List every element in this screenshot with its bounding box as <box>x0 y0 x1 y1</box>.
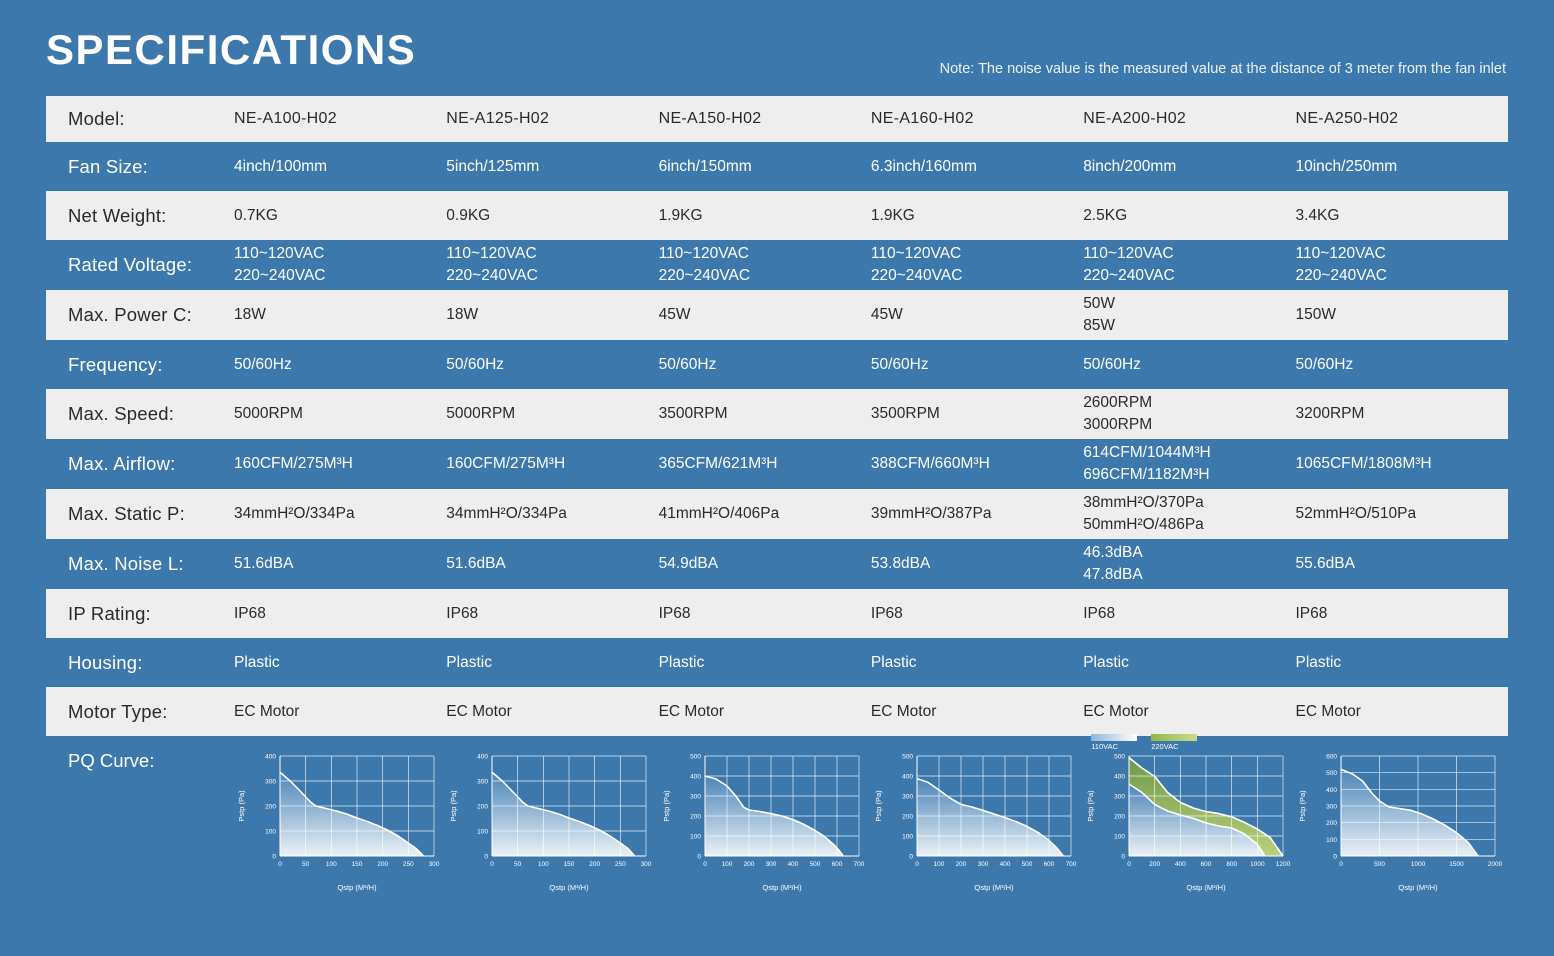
table-cell: 5inch/125mm <box>446 142 658 191</box>
cell-value: 50/60Hz <box>659 354 865 376</box>
svg-text:200: 200 <box>590 861 601 868</box>
legend-label: 220VAC <box>1151 742 1178 751</box>
svg-text:400: 400 <box>1327 787 1338 794</box>
cell-value: 2600RPM <box>1083 392 1289 414</box>
table-cell: 45W <box>871 290 1083 340</box>
svg-text:200: 200 <box>1327 820 1338 827</box>
svg-text:250: 250 <box>615 861 626 868</box>
table-cell: EC Motor <box>871 687 1083 736</box>
table-cell: 55.6dBA <box>1295 539 1507 589</box>
table-cell: 50/60Hz <box>1295 340 1507 389</box>
svg-text:100: 100 <box>690 834 701 841</box>
table-cell: 2600RPM3000RPM <box>1083 389 1295 439</box>
svg-text:200: 200 <box>743 861 754 868</box>
svg-text:0: 0 <box>278 861 282 868</box>
pq-chart-6: 01002003004005006000500100015002000Qstp … <box>1295 746 1507 894</box>
cell-value: EC Motor <box>1083 701 1289 723</box>
pq-chart-5: 110VAC220VAC0100200300400500020040060080… <box>1083 746 1295 894</box>
row-label: Housing: <box>46 638 234 687</box>
cell-value-secondary: 220~240VAC <box>871 265 1077 287</box>
cell-value: IP68 <box>1083 603 1289 625</box>
cell-value: 53.8dBA <box>871 553 1077 575</box>
pq-chart-2: 0100200300400050100150200250300Qstp (M³/… <box>446 746 658 894</box>
table-cell: 388CFM/660M³H <box>871 439 1083 489</box>
svg-text:500: 500 <box>1114 754 1125 761</box>
table-row: Rated Voltage:110~120VAC220~240VAC110~12… <box>46 240 1508 290</box>
pq-chart-4: 01002003004005000100200300400500600700Qs… <box>871 746 1083 894</box>
row-label: Max. Airflow: <box>46 439 234 489</box>
svg-text:500: 500 <box>902 754 913 761</box>
svg-text:100: 100 <box>538 861 549 868</box>
cell-value: 18W <box>446 304 652 326</box>
svg-text:400: 400 <box>999 861 1010 868</box>
row-label: Max. Static P: <box>46 489 234 539</box>
cell-value: IP68 <box>234 603 440 625</box>
table-cell: Plastic <box>234 638 446 687</box>
svg-text:300: 300 <box>1114 794 1125 801</box>
svg-text:Qstp (M³/H): Qstp (M³/H) <box>1399 883 1439 892</box>
cell-value: EC Motor <box>659 701 865 723</box>
table-cell: 50/60Hz <box>234 340 446 389</box>
pq-curve-chart: 01002003004005000100200300400500600700Qs… <box>871 746 1079 894</box>
cell-value: 110~120VAC <box>659 243 865 265</box>
cell-value: 45W <box>871 304 1077 326</box>
table-cell: 45W <box>659 290 871 340</box>
svg-text:150: 150 <box>564 861 575 868</box>
cell-value: 8inch/200mm <box>1083 156 1289 178</box>
table-cell: 53.8dBA <box>871 539 1083 589</box>
cell-value: 18W <box>234 304 440 326</box>
svg-text:200: 200 <box>265 804 276 811</box>
svg-text:100: 100 <box>721 861 732 868</box>
svg-text:700: 700 <box>853 861 864 868</box>
svg-text:200: 200 <box>477 804 488 811</box>
pq-curve-row: PQ Curve:0100200300400050100150200250300… <box>46 736 1508 916</box>
row-label: Max. Power C: <box>46 290 234 340</box>
cell-value: 1.9KG <box>871 205 1077 227</box>
svg-text:Qstp (M³/H): Qstp (M³/H) <box>762 883 802 892</box>
svg-text:50: 50 <box>514 861 522 868</box>
pq-chart-3: 01002003004005000100200300400500600700Qs… <box>659 746 871 894</box>
svg-text:300: 300 <box>265 779 276 786</box>
cell-value-secondary: 696CFM/1182M³H <box>1083 464 1289 486</box>
svg-text:0: 0 <box>490 861 494 868</box>
cell-value: 110~120VAC <box>446 243 652 265</box>
table-row: Model:NE-A100-H02NE-A125-H02NE-A150-H02N… <box>46 96 1508 142</box>
specifications-table: Model:NE-A100-H02NE-A125-H02NE-A150-H02N… <box>46 96 1508 916</box>
svg-text:0: 0 <box>1340 861 1344 868</box>
svg-text:200: 200 <box>690 814 701 821</box>
cell-value: NE-A150-H02 <box>659 108 865 131</box>
cell-value: 51.6dBA <box>446 553 652 575</box>
cell-value: Plastic <box>234 652 440 674</box>
table-row: Frequency:50/60Hz50/60Hz50/60Hz50/60Hz50… <box>46 340 1508 389</box>
svg-text:400: 400 <box>477 754 488 761</box>
row-label: Fan Size: <box>46 142 234 191</box>
table-row: Housing:PlasticPlasticPlasticPlasticPlas… <box>46 638 1508 687</box>
svg-text:500: 500 <box>690 754 701 761</box>
table-cell: Plastic <box>1295 638 1507 687</box>
svg-text:150: 150 <box>352 861 363 868</box>
pq-curve-chart: 0100200300400050100150200250300Qstp (M³/… <box>446 746 654 894</box>
svg-text:200: 200 <box>377 861 388 868</box>
table-cell: 34mmH²O/334Pa <box>234 489 446 539</box>
page-title: SPECIFICATIONS <box>46 26 416 74</box>
cell-value-secondary: 47.8dBA <box>1083 564 1289 586</box>
svg-text:Pstp (Pa): Pstp (Pa) <box>662 790 671 822</box>
table-cell: 50/60Hz <box>659 340 871 389</box>
table-row: Max. Static P:34mmH²O/334Pa34mmH²O/334Pa… <box>46 489 1508 539</box>
table-cell: 1.9KG <box>871 191 1083 240</box>
cell-value: Plastic <box>871 652 1077 674</box>
svg-text:250: 250 <box>403 861 414 868</box>
cell-value: Plastic <box>446 652 652 674</box>
page-header: SPECIFICATIONS Note: The noise value is … <box>0 0 1554 88</box>
cell-value: 34mmH²O/334Pa <box>446 503 652 525</box>
cell-value: IP68 <box>659 603 865 625</box>
svg-text:0: 0 <box>909 854 913 861</box>
cell-value: IP68 <box>1295 603 1501 625</box>
cell-value: 6.3inch/160mm <box>871 156 1077 178</box>
table-row: Net Weight:0.7KG0.9KG1.9KG1.9KG2.5KG3.4K… <box>46 191 1508 240</box>
svg-text:0: 0 <box>697 854 701 861</box>
cell-value: IP68 <box>871 603 1077 625</box>
legend-item: 220VAC <box>1151 734 1197 751</box>
svg-text:500: 500 <box>1327 770 1338 777</box>
cell-value-secondary: 220~240VAC <box>234 265 440 287</box>
cell-value: 110~120VAC <box>1083 243 1289 265</box>
row-label: Model: <box>46 96 234 142</box>
table-cell: 110~120VAC220~240VAC <box>1083 240 1295 290</box>
cell-value: 38mmH²O/370Pa <box>1083 492 1289 514</box>
table-cell: IP68 <box>871 589 1083 638</box>
svg-text:50: 50 <box>302 861 310 868</box>
table-cell: 52mmH²O/510Pa <box>1295 489 1507 539</box>
cell-value-secondary: 85W <box>1083 315 1289 337</box>
svg-text:400: 400 <box>1114 774 1125 781</box>
table-cell: 50/60Hz <box>1083 340 1295 389</box>
cell-value: 50/60Hz <box>1295 354 1501 376</box>
table-cell: 38mmH²O/370Pa50mmH²O/486Pa <box>1083 489 1295 539</box>
svg-text:Qstp (M³/H): Qstp (M³/H) <box>974 883 1014 892</box>
table-cell: Plastic <box>1083 638 1295 687</box>
table-cell: 110~120VAC220~240VAC <box>1295 240 1507 290</box>
table-cell: EC Motor <box>659 687 871 736</box>
svg-text:200: 200 <box>1149 861 1160 868</box>
svg-text:Pstp (Pa): Pstp (Pa) <box>1298 790 1307 822</box>
table-cell: 1065CFM/1808M³H <box>1295 439 1507 489</box>
table-cell: 0.9KG <box>446 191 658 240</box>
table-row: Fan Size:4inch/100mm5inch/125mm6inch/150… <box>46 142 1508 191</box>
cell-value: 45W <box>659 304 865 326</box>
svg-text:200: 200 <box>902 814 913 821</box>
table-cell: EC Motor <box>1295 687 1507 736</box>
svg-text:300: 300 <box>765 861 776 868</box>
table-row: IP Rating:IP68IP68IP68IP68IP68IP68 <box>46 589 1508 638</box>
svg-text:200: 200 <box>1114 814 1125 821</box>
cell-value: EC Motor <box>871 701 1077 723</box>
svg-text:Pstp (Pa): Pstp (Pa) <box>449 790 458 822</box>
cell-value: 50W <box>1083 293 1289 315</box>
cell-value: 34mmH²O/334Pa <box>234 503 440 525</box>
table-cell: 4inch/100mm <box>234 142 446 191</box>
cell-value: 52mmH²O/510Pa <box>1295 503 1501 525</box>
table-cell: Plastic <box>871 638 1083 687</box>
svg-text:0: 0 <box>272 854 276 861</box>
cell-value: 3.4KG <box>1295 205 1501 227</box>
cell-value: 150W <box>1295 304 1501 326</box>
cell-value: 50/60Hz <box>1083 354 1289 376</box>
cell-value: 10inch/250mm <box>1295 156 1501 178</box>
table-cell: IP68 <box>1295 589 1507 638</box>
legend-label: 110VAC <box>1091 742 1118 751</box>
table-cell: 6.3inch/160mm <box>871 142 1083 191</box>
cell-value: 0.9KG <box>446 205 652 227</box>
svg-text:300: 300 <box>477 779 488 786</box>
cell-value: NE-A100-H02 <box>234 108 440 131</box>
svg-text:100: 100 <box>477 829 488 836</box>
table-cell: NE-A150-H02 <box>659 96 871 142</box>
table-cell: 3.4KG <box>1295 191 1507 240</box>
table-cell: 0.7KG <box>234 191 446 240</box>
cell-value: EC Motor <box>234 701 440 723</box>
table-cell: 160CFM/275M³H <box>234 439 446 489</box>
cell-value: 5inch/125mm <box>446 156 652 178</box>
cell-value: 46.3dBA <box>1083 542 1289 564</box>
svg-text:0: 0 <box>1127 861 1131 868</box>
table-cell: IP68 <box>1083 589 1295 638</box>
table-row: Motor Type:EC MotorEC MotorEC MotorEC Mo… <box>46 687 1508 736</box>
cell-value-secondary: 220~240VAC <box>1083 265 1289 287</box>
row-label: Max. Speed: <box>46 389 234 439</box>
table-cell: 51.6dBA <box>446 539 658 589</box>
table-cell: 160CFM/275M³H <box>446 439 658 489</box>
svg-text:100: 100 <box>326 861 337 868</box>
pq-curve-chart: 01002003004005000100200300400500600700Qs… <box>659 746 867 894</box>
svg-text:500: 500 <box>1021 861 1032 868</box>
svg-text:600: 600 <box>1201 861 1212 868</box>
cell-value: NE-A125-H02 <box>446 108 652 131</box>
row-label: Net Weight: <box>46 191 234 240</box>
cell-value-secondary: 220~240VAC <box>659 265 865 287</box>
svg-text:1200: 1200 <box>1276 861 1291 868</box>
cell-value: 50/60Hz <box>871 354 1077 376</box>
svg-text:300: 300 <box>641 861 652 868</box>
row-label: Max. Noise L: <box>46 539 234 589</box>
svg-text:600: 600 <box>1043 861 1054 868</box>
cell-value: 0.7KG <box>234 205 440 227</box>
cell-value: 5000RPM <box>446 403 652 425</box>
cell-value: 160CFM/275M³H <box>234 453 440 475</box>
table-cell: 110~120VAC220~240VAC <box>234 240 446 290</box>
cell-value-secondary: 3000RPM <box>1083 414 1289 436</box>
table-row: Max. Speed:5000RPM5000RPM3500RPM3500RPM2… <box>46 389 1508 439</box>
svg-text:0: 0 <box>1122 854 1126 861</box>
table-cell: EC Motor <box>1083 687 1295 736</box>
svg-text:300: 300 <box>977 861 988 868</box>
svg-text:500: 500 <box>809 861 820 868</box>
table-cell: 46.3dBA47.8dBA <box>1083 539 1295 589</box>
table-cell: 18W <box>234 290 446 340</box>
svg-text:400: 400 <box>1175 861 1186 868</box>
table-cell: 8inch/200mm <box>1083 142 1295 191</box>
svg-text:300: 300 <box>690 794 701 801</box>
svg-text:Qstp (M³/H): Qstp (M³/H) <box>550 883 590 892</box>
cell-value: 54.9dBA <box>659 553 865 575</box>
table-cell: 2.5KG <box>1083 191 1295 240</box>
cell-value: 110~120VAC <box>234 243 440 265</box>
chart-legend: 110VAC220VAC <box>1091 734 1197 751</box>
table-cell: 34mmH²O/334Pa <box>446 489 658 539</box>
table-cell: 614CFM/1044M³H696CFM/1182M³H <box>1083 439 1295 489</box>
pq-chart-1: 0100200300400050100150200250300Qstp (M³/… <box>234 746 446 894</box>
svg-text:Pstp (Pa): Pstp (Pa) <box>237 790 246 822</box>
table-row: Max. Airflow:160CFM/275M³H160CFM/275M³H3… <box>46 439 1508 489</box>
cell-value: 614CFM/1044M³H <box>1083 442 1289 464</box>
table-cell: 50/60Hz <box>871 340 1083 389</box>
cell-value: 1065CFM/1808M³H <box>1295 453 1501 475</box>
table-cell: NE-A250-H02 <box>1295 96 1507 142</box>
cell-value: Plastic <box>659 652 865 674</box>
svg-text:Qstp (M³/H): Qstp (M³/H) <box>1187 883 1227 892</box>
cell-value: 55.6dBA <box>1295 553 1501 575</box>
svg-text:500: 500 <box>1375 861 1386 868</box>
svg-text:1500: 1500 <box>1450 861 1465 868</box>
table-cell: NE-A125-H02 <box>446 96 658 142</box>
table-cell: 5000RPM <box>446 389 658 439</box>
table-cell: 41mmH²O/406Pa <box>659 489 871 539</box>
cell-value: 39mmH²O/387Pa <box>871 503 1077 525</box>
cell-value: NE-A200-H02 <box>1083 108 1289 131</box>
svg-text:400: 400 <box>787 861 798 868</box>
svg-text:400: 400 <box>902 774 913 781</box>
cell-value: NE-A250-H02 <box>1295 108 1501 131</box>
cell-value: 3200RPM <box>1295 403 1501 425</box>
row-label: IP Rating: <box>46 589 234 638</box>
cell-value: Plastic <box>1083 652 1289 674</box>
table-cell: NE-A100-H02 <box>234 96 446 142</box>
row-label: Motor Type: <box>46 687 234 736</box>
legend-item: 110VAC <box>1091 734 1137 751</box>
table-cell: Plastic <box>446 638 658 687</box>
cell-value-secondary: 220~240VAC <box>446 265 652 287</box>
cell-value-secondary: 220~240VAC <box>1295 265 1501 287</box>
table-cell: 3500RPM <box>659 389 871 439</box>
table-cell: NE-A200-H02 <box>1083 96 1295 142</box>
svg-text:600: 600 <box>831 861 842 868</box>
table-cell: 50/60Hz <box>446 340 658 389</box>
cell-value: 110~120VAC <box>871 243 1077 265</box>
cell-value: 365CFM/621M³H <box>659 453 865 475</box>
cell-value: 5000RPM <box>234 403 440 425</box>
table-cell: 5000RPM <box>234 389 446 439</box>
svg-text:700: 700 <box>1065 861 1076 868</box>
svg-text:300: 300 <box>902 794 913 801</box>
cell-value: 2.5KG <box>1083 205 1289 227</box>
svg-text:Pstp (Pa): Pstp (Pa) <box>874 790 883 822</box>
table-cell: 50W85W <box>1083 290 1295 340</box>
cell-value: 3500RPM <box>659 403 865 425</box>
table-cell: 39mmH²O/387Pa <box>871 489 1083 539</box>
table-cell: IP68 <box>446 589 658 638</box>
table-cell: 1.9KG <box>659 191 871 240</box>
row-label: Frequency: <box>46 340 234 389</box>
table-cell: EC Motor <box>234 687 446 736</box>
pq-curve-chart: 01002003004005006000500100015002000Qstp … <box>1295 746 1503 894</box>
svg-text:1000: 1000 <box>1250 861 1265 868</box>
table-cell: 110~120VAC220~240VAC <box>446 240 658 290</box>
table-row: Max. Noise L:51.6dBA51.6dBA54.9dBA53.8dB… <box>46 539 1508 589</box>
pq-curve-chart: 0100200300400050100150200250300Qstp (M³/… <box>234 746 442 894</box>
cell-value: 6inch/150mm <box>659 156 865 178</box>
cell-value: NE-A160-H02 <box>871 108 1077 131</box>
noise-note: Note: The noise value is the measured va… <box>940 61 1506 77</box>
svg-text:2000: 2000 <box>1488 861 1503 868</box>
table-cell: 54.9dBA <box>659 539 871 589</box>
legend-swatch-icon <box>1151 734 1197 741</box>
table-cell: EC Motor <box>446 687 658 736</box>
svg-text:600: 600 <box>1327 754 1338 761</box>
svg-text:Pstp (Pa): Pstp (Pa) <box>1086 790 1095 822</box>
cell-value: EC Motor <box>446 701 652 723</box>
table-cell: 150W <box>1295 290 1507 340</box>
cell-value: 1.9KG <box>659 205 865 227</box>
cell-value: 110~120VAC <box>1295 243 1501 265</box>
table-row: Max. Power C:18W18W45W45W50W85W150W <box>46 290 1508 340</box>
svg-text:0: 0 <box>1334 854 1338 861</box>
svg-text:300: 300 <box>1327 804 1338 811</box>
row-label: Rated Voltage: <box>46 240 234 290</box>
cell-value: 4inch/100mm <box>234 156 440 178</box>
svg-text:0: 0 <box>485 854 489 861</box>
svg-text:100: 100 <box>1327 837 1338 844</box>
pq-curve-label: PQ Curve: <box>46 746 234 772</box>
cell-value-secondary: 50mmH²O/486Pa <box>1083 514 1289 536</box>
table-cell: Plastic <box>659 638 871 687</box>
table-cell: 110~120VAC220~240VAC <box>871 240 1083 290</box>
svg-text:400: 400 <box>690 774 701 781</box>
svg-text:1000: 1000 <box>1411 861 1426 868</box>
svg-text:0: 0 <box>915 861 919 868</box>
svg-text:100: 100 <box>265 829 276 836</box>
cell-value: 3500RPM <box>871 403 1077 425</box>
table-cell: 6inch/150mm <box>659 142 871 191</box>
cell-value: 51.6dBA <box>234 553 440 575</box>
table-cell: 10inch/250mm <box>1295 142 1507 191</box>
table-cell: 51.6dBA <box>234 539 446 589</box>
svg-text:800: 800 <box>1226 861 1237 868</box>
cell-value: 160CFM/275M³H <box>446 453 652 475</box>
svg-text:200: 200 <box>955 861 966 868</box>
cell-value: 50/60Hz <box>234 354 440 376</box>
svg-text:300: 300 <box>429 861 440 868</box>
svg-text:400: 400 <box>265 754 276 761</box>
table-cell: IP68 <box>234 589 446 638</box>
table-cell: NE-A160-H02 <box>871 96 1083 142</box>
table-cell: 18W <box>446 290 658 340</box>
specifications-page: SPECIFICATIONS Note: The noise value is … <box>0 0 1554 956</box>
svg-text:Qstp (M³/H): Qstp (M³/H) <box>337 883 377 892</box>
cell-value: Plastic <box>1295 652 1501 674</box>
pq-curve-chart: 0100200300400500020040060080010001200Qst… <box>1083 746 1291 894</box>
cell-value: 41mmH²O/406Pa <box>659 503 865 525</box>
svg-text:100: 100 <box>933 861 944 868</box>
table-cell: 3200RPM <box>1295 389 1507 439</box>
table-cell: IP68 <box>659 589 871 638</box>
cell-value: IP68 <box>446 603 652 625</box>
svg-text:100: 100 <box>1114 834 1125 841</box>
table-cell: 110~120VAC220~240VAC <box>659 240 871 290</box>
